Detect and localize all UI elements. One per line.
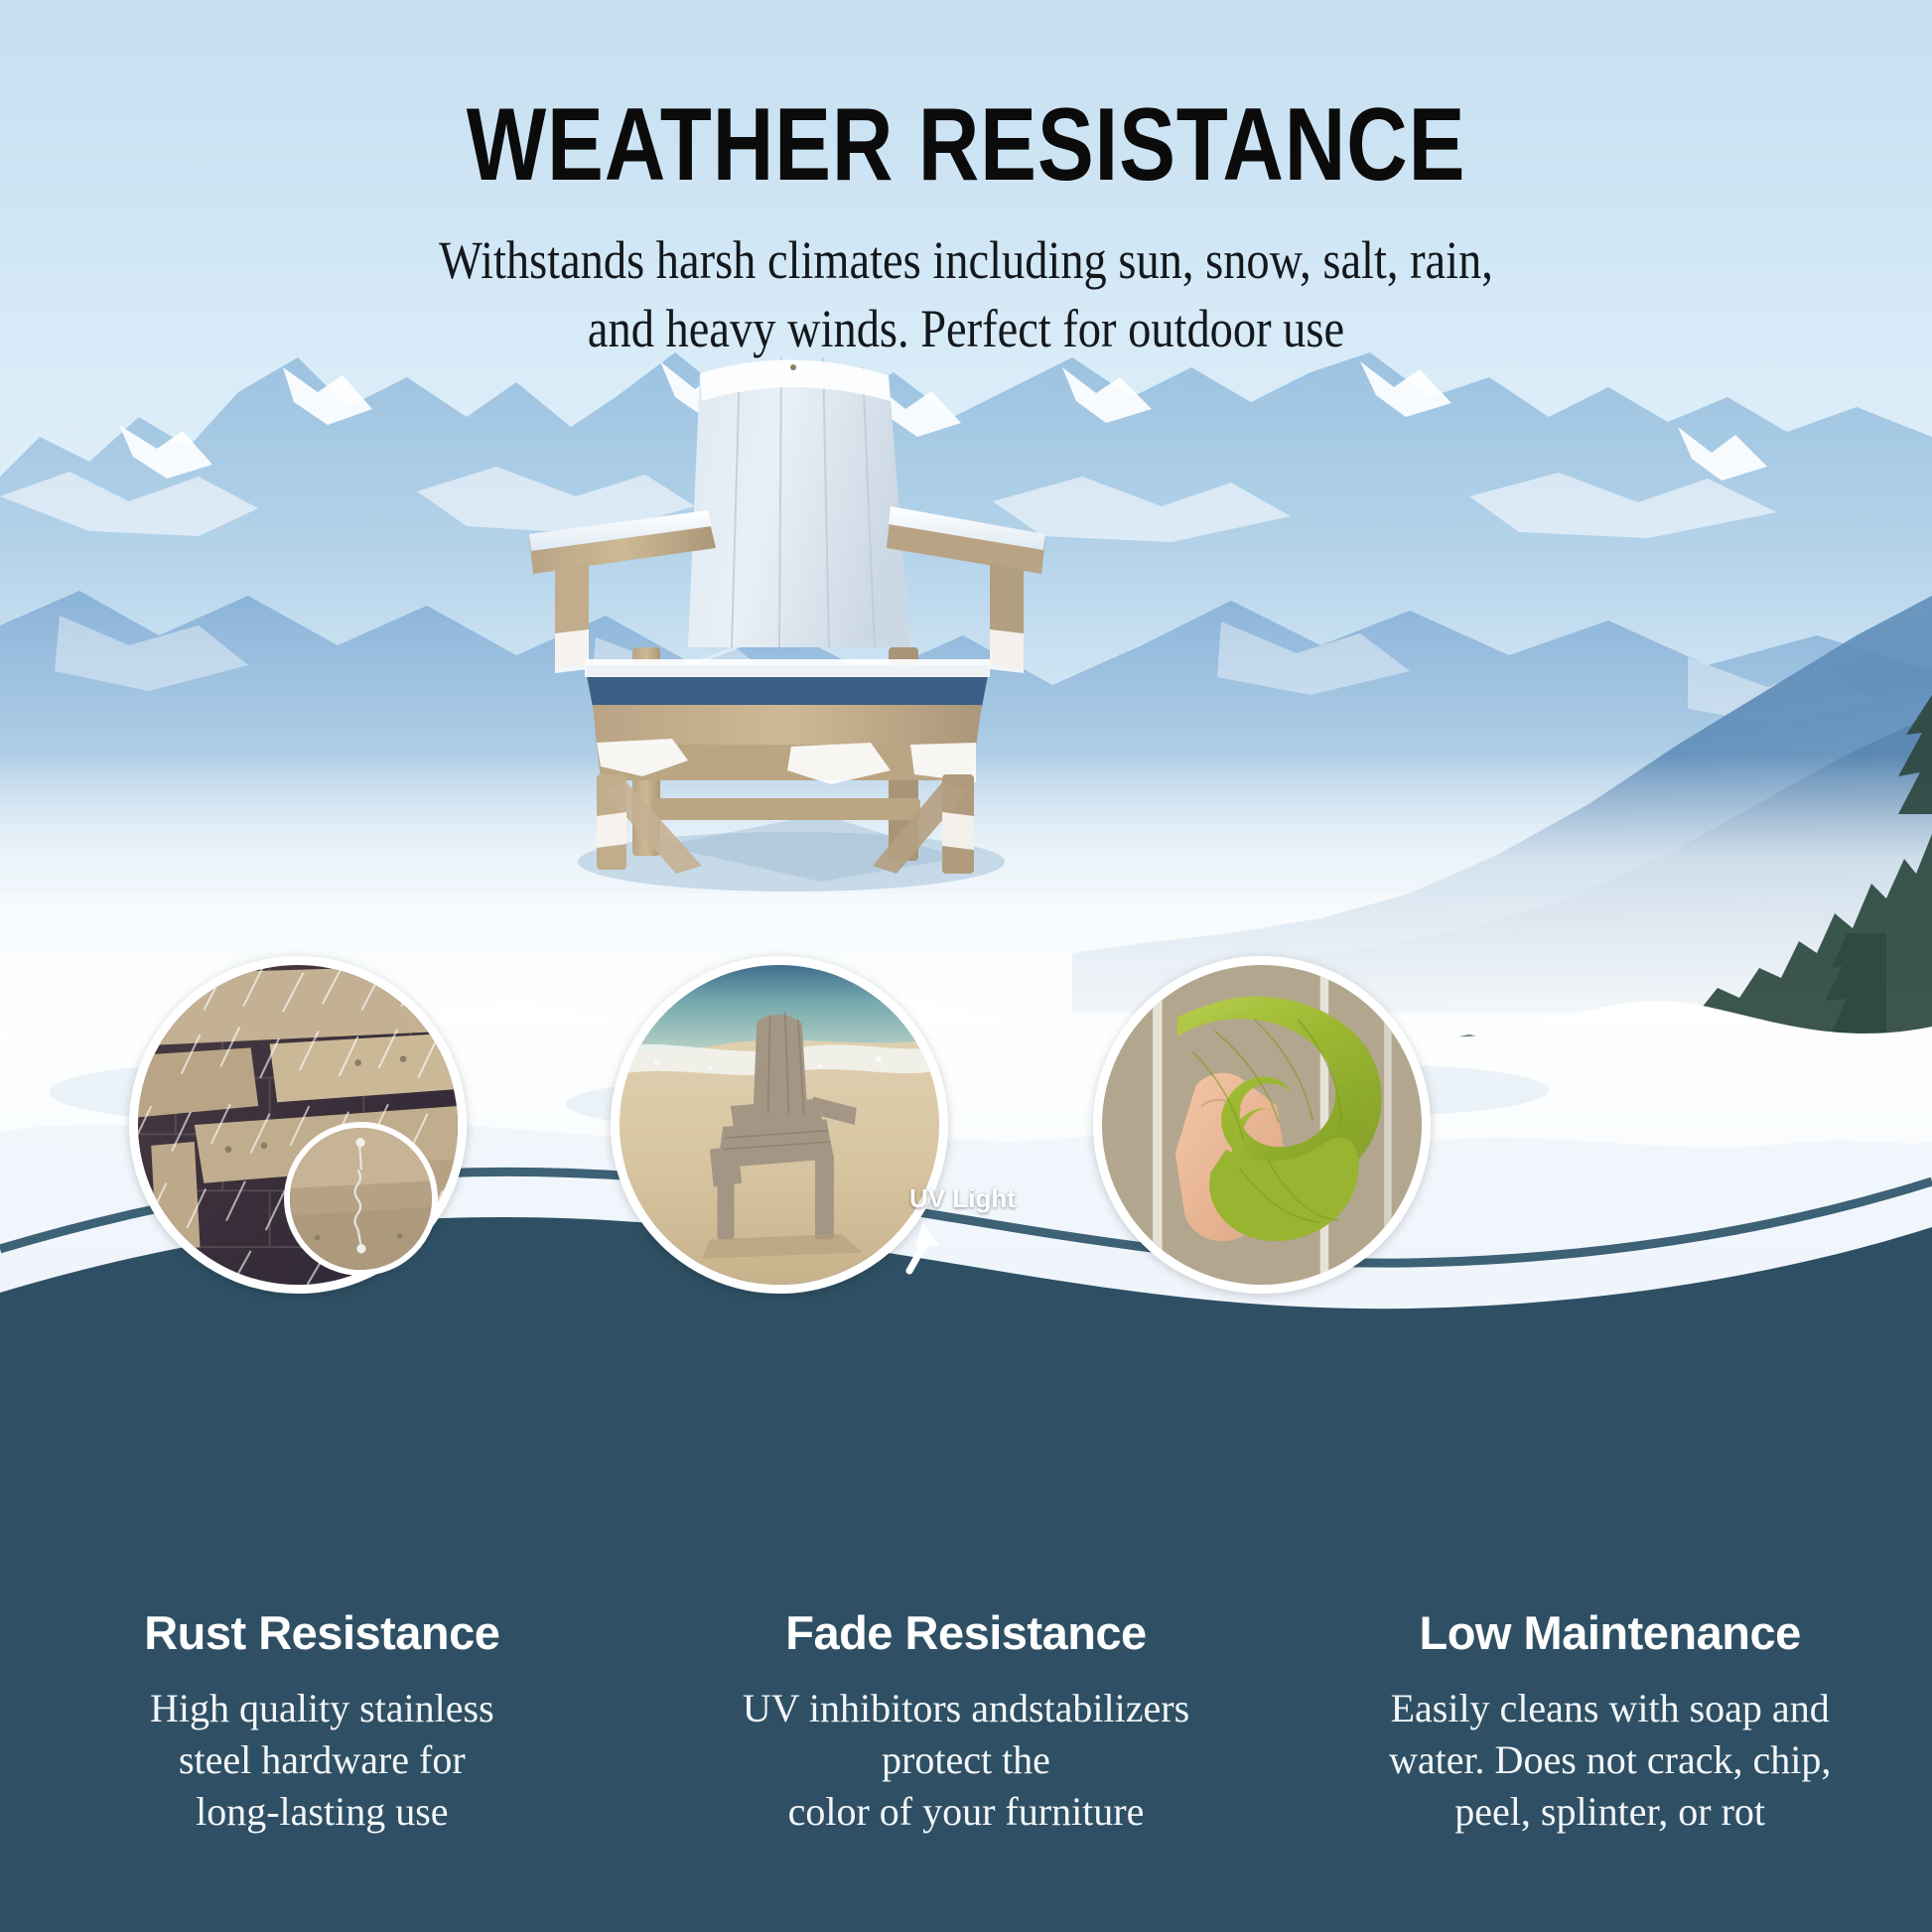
feature-title: Rust Resistance xyxy=(26,1608,619,1657)
feature-rust-resistance: Rust Resistance High quality stainless s… xyxy=(0,1608,644,1838)
feature-body-line: steel hardware for xyxy=(26,1734,619,1786)
feature-image-rust-resistance[interactable] xyxy=(129,956,467,1294)
feature-body-line: peel, splinter, or rot xyxy=(1313,1786,1906,1838)
feature-title: Fade Resistance xyxy=(670,1608,1263,1657)
feature-body: High quality stainless steel hardware fo… xyxy=(26,1683,619,1838)
feature-fade-resistance: Fade Resistance UV inhibitors andstabili… xyxy=(644,1608,1289,1838)
feature-low-maintenance: Low Maintenance Easily cleans with soap … xyxy=(1288,1608,1932,1838)
uv-light-arrow-icon xyxy=(896,1209,965,1279)
page-title: WEATHER RESISTANCE xyxy=(174,93,1758,197)
feature-body-line: long-lasting use xyxy=(26,1786,619,1838)
feature-body: UV inhibitors andstabilizers protect the… xyxy=(670,1683,1263,1838)
feature-body: Easily cleans with soap and water. Does … xyxy=(1313,1683,1906,1838)
feature-body-line: color of your furniture xyxy=(670,1786,1263,1838)
page-subtitle: Withstands harsh climates including sun,… xyxy=(135,226,1797,363)
feature-body-line: water. Does not crack, chip, xyxy=(1313,1734,1906,1786)
feature-body-line: High quality stainless xyxy=(26,1683,619,1734)
subtitle-line-2: and heavy winds. Perfect for outdoor use xyxy=(135,295,1797,363)
header: WEATHER RESISTANCE Withstands harsh clim… xyxy=(0,0,1932,363)
subtitle-line-1: Withstands harsh climates including sun,… xyxy=(439,230,1493,290)
feature-body-line: protect the xyxy=(670,1734,1263,1786)
infographic-canvas: UV Light WEATHER RESISTANCE Withstands h… xyxy=(0,0,1932,1932)
feature-title: Low Maintenance xyxy=(1313,1608,1906,1657)
feature-image-low-maintenance[interactable] xyxy=(1093,956,1431,1294)
feature-list: Rust Resistance High quality stainless s… xyxy=(0,1608,1932,1838)
adirondack-chair-hero xyxy=(493,349,1049,905)
feature-body-line: UV inhibitors andstabilizers xyxy=(670,1683,1263,1734)
feature-body-line: Easily cleans with soap and xyxy=(1313,1683,1906,1734)
